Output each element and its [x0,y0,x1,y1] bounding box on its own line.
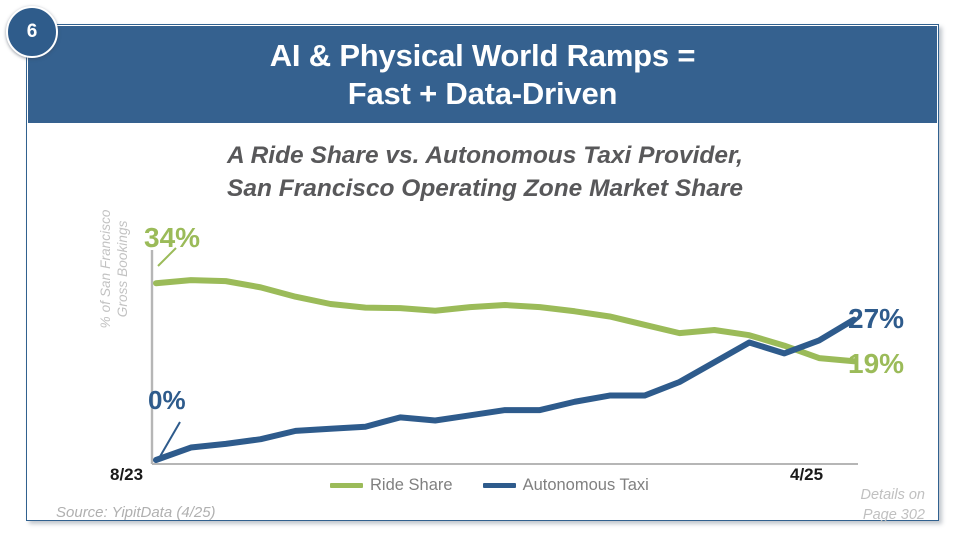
legend-label-autonomous: Autonomous Taxi [523,476,649,495]
legend-item-ride-share: Ride Share [330,476,453,495]
annotation-start-autonomous: 0% [148,385,186,416]
legend-swatch-ride-share [330,483,363,488]
page-title: AI & Physical World Ramps = Fast + Data-… [270,37,696,113]
page-number-badge: 6 [6,6,58,58]
chart-legend: Ride Share Autonomous Taxi [330,476,649,495]
chart-container: % of San Francisco Gross Bookings 34% 0%… [28,210,937,480]
annotation-end-autonomous: 27% [848,303,904,335]
series-line-autonomous [156,320,854,460]
x-axis-tick-start: 8/23 [110,465,143,485]
legend-label-ride-share: Ride Share [370,476,453,495]
source-note: Source: YipitData (4/25) [56,504,216,521]
x-axis-tick-end: 4/25 [790,465,823,485]
slide: AI & Physical World Ramps = Fast + Data-… [0,0,969,547]
annotation-end-ride-share: 19% [848,348,904,380]
chart-subtitle: A Ride Share vs. Autonomous Taxi Provide… [70,140,900,205]
legend-item-autonomous: Autonomous Taxi [483,476,649,495]
legend-swatch-autonomous [483,483,516,488]
annotation-start-ride-share: 34% [144,222,200,254]
page-number-text: 6 [27,21,38,43]
details-note: Details on Page 302 [755,486,925,525]
header-bar: AI & Physical World Ramps = Fast + Data-… [28,26,937,123]
series-line-ride-share [156,280,854,361]
